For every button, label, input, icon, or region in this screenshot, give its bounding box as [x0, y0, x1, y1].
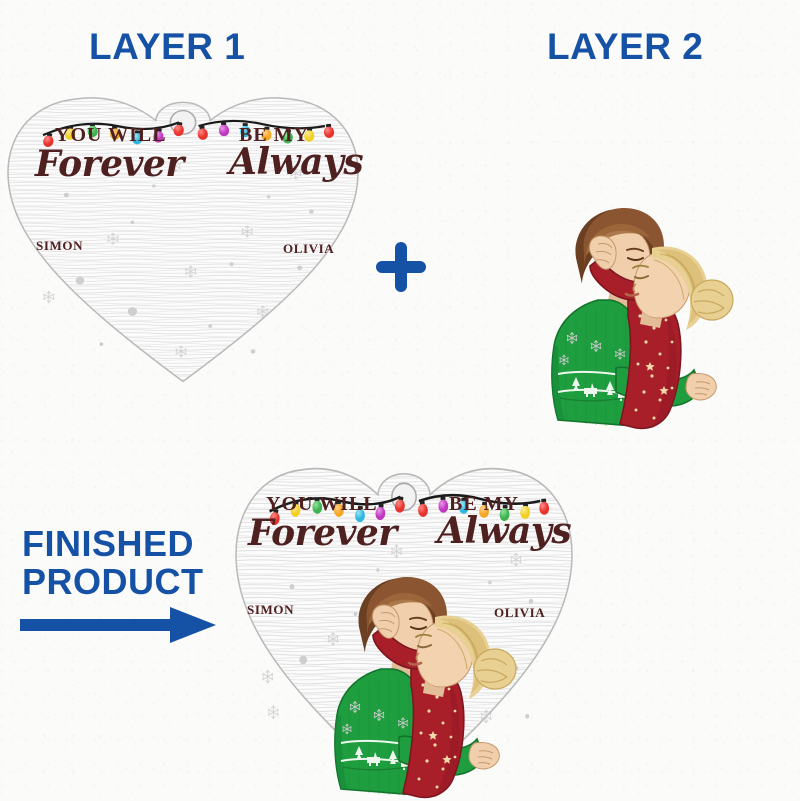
finished-product-label-line2: PRODUCT [22, 563, 204, 601]
layer-1-ornament: YOU WILL Forever BE MY Always SIMON OLIV… [8, 86, 358, 386]
finished-couple-figure [307, 565, 523, 801]
plus-icon [372, 238, 430, 296]
layer-2-label: LAYER 2 [547, 28, 703, 65]
finished-product-label: FINISHED PRODUCT [22, 525, 204, 601]
finished-product-ornament: YOU WILL Forever BE MY Always SIMON OLIV… [236, 455, 572, 800]
finished-product-label-line1: FINISHED [22, 525, 204, 563]
heart-base-shape [8, 86, 358, 386]
layer-2-couple-figure [524, 196, 740, 432]
right-arrow-icon [20, 604, 216, 646]
layer-1-label: LAYER 1 [89, 28, 245, 65]
